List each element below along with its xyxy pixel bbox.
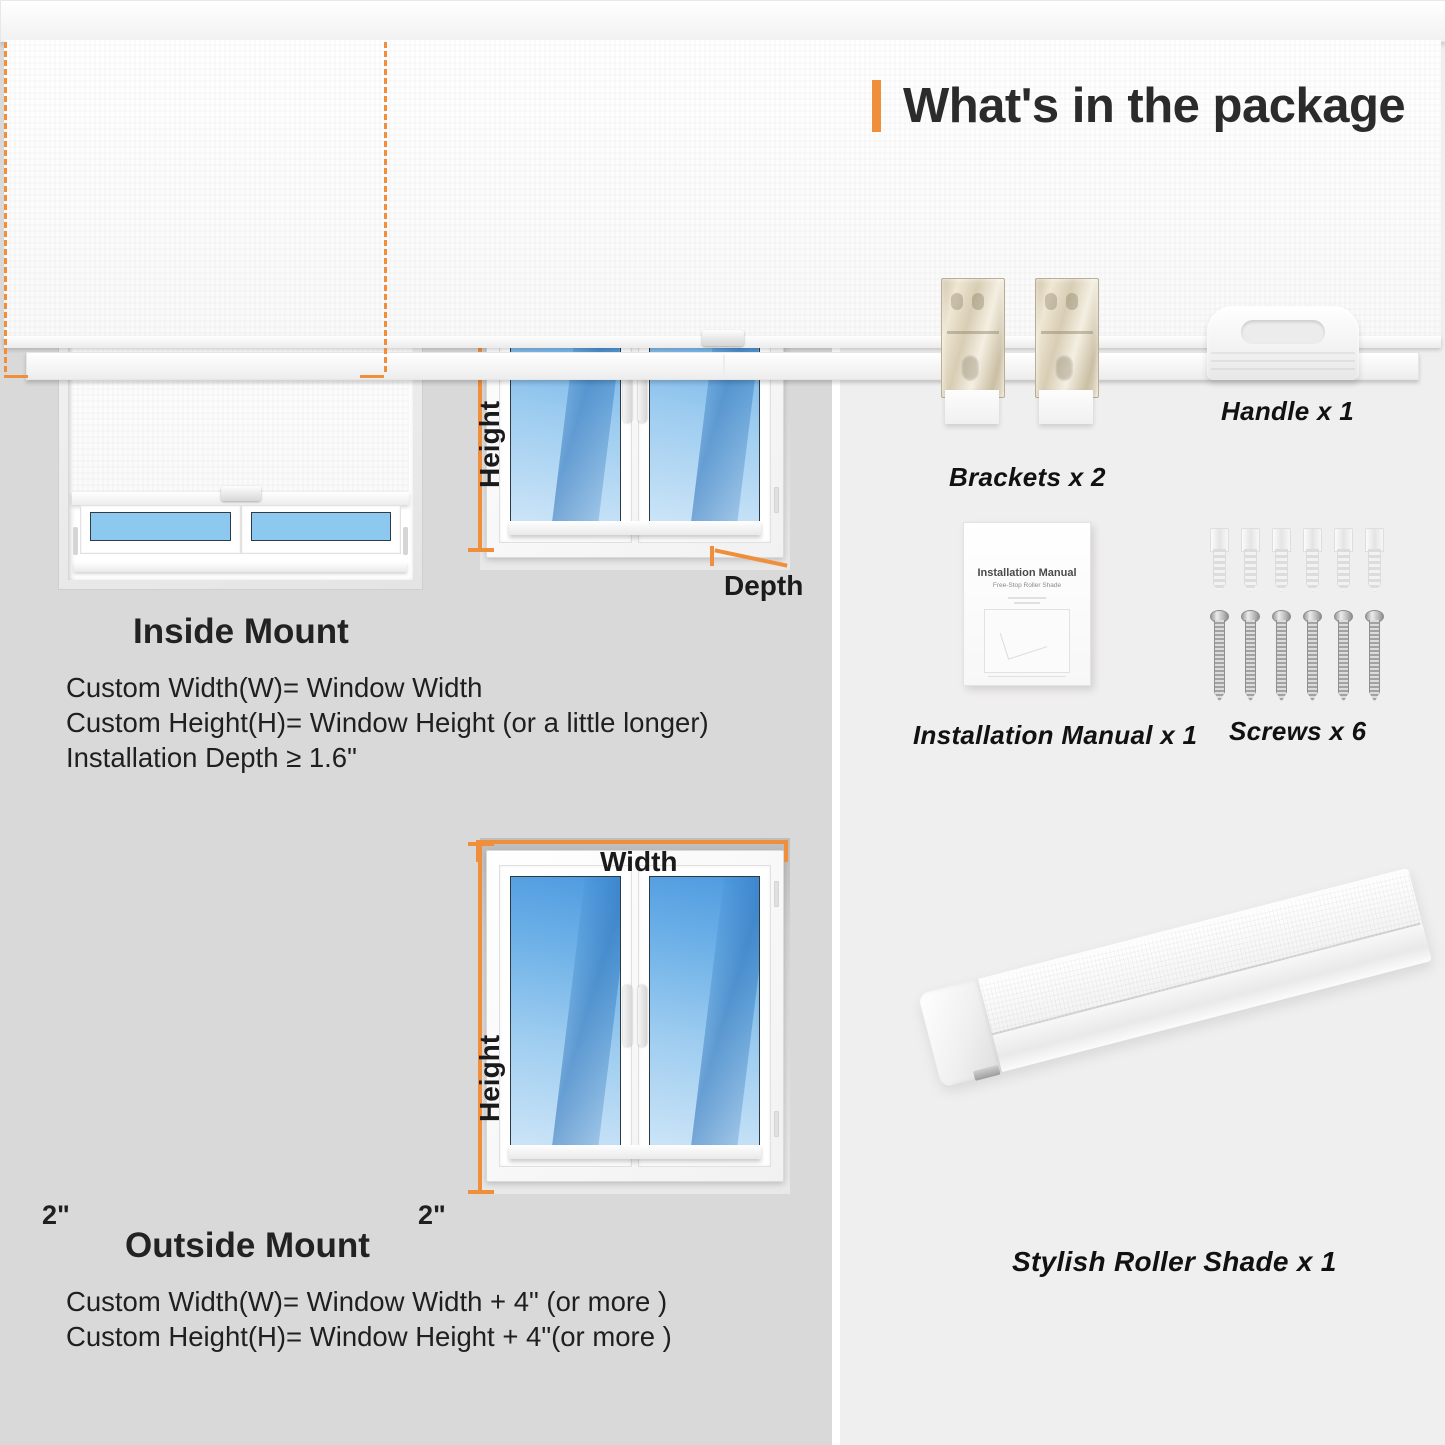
window-base (509, 1145, 761, 1159)
screw-icon (1334, 610, 1351, 702)
shade-cassette (0, 0, 1445, 42)
shade-pull-tab-icon (221, 486, 261, 501)
height-tick-bottom (468, 548, 494, 552)
manual-icon: Installation Manual Free-Stop Roller Sha… (963, 522, 1091, 686)
overhang-label-right: 2" (418, 1200, 446, 1231)
width-label: Width (600, 846, 678, 878)
roller-shade-icon (912, 885, 1432, 1215)
handle-label: Handle x 1 (1221, 396, 1354, 427)
window-frame (486, 850, 784, 1182)
manual-cover-subtitle: Free-Stop Roller Shade (964, 582, 1090, 589)
wall-anchor-icon (1302, 528, 1321, 590)
wall-anchor-icon (1209, 528, 1228, 590)
window-pane-right (649, 876, 760, 1156)
depth-label: Depth (724, 570, 803, 602)
window-hinge-top-icon (774, 881, 779, 907)
height-label: Height (474, 401, 506, 488)
window-sash-left (80, 505, 241, 554)
inside-mount-text: Custom Width(W)= Window Width Custom Hei… (66, 670, 709, 775)
screw-icon (1303, 610, 1320, 702)
wall-anchor-icon (1240, 528, 1259, 590)
roller-shade-label: Stylish Roller Shade x 1 (1012, 1246, 1337, 1278)
height-tick-top (468, 842, 494, 846)
screw-icon (1272, 610, 1289, 702)
wall-anchor-icon (1271, 528, 1290, 590)
window-hinge-left-icon (73, 527, 78, 555)
installation-manual-label: Installation Manual x 1 (913, 720, 1197, 751)
overhang-guide-left (4, 42, 7, 372)
overhang-label-left: 2" (42, 1200, 70, 1231)
window-hinge-bottom-icon (774, 1111, 779, 1137)
window-sash-left (499, 865, 632, 1167)
outside-mount-measure-diagram: Width Height (452, 822, 812, 1222)
outside-mount-line-1: Custom Width(W)= Window Width + 4" (or m… (66, 1284, 672, 1319)
screws-label: Screws x 6 (1229, 716, 1366, 747)
window-sash-right (638, 865, 771, 1167)
bracket-icon (1035, 278, 1097, 428)
inside-mount-line-3: Installation Depth ≥ 1.6" (66, 740, 709, 775)
roller-shade-tube (918, 868, 1432, 1088)
bracket-icon (941, 278, 1003, 428)
infographic-page: How to Meausre (0, 0, 1445, 1445)
accent-bar-icon (872, 80, 881, 132)
window-pane-left (510, 876, 621, 1156)
outside-mount-title: Outside Mount (125, 1226, 370, 1266)
screw-icon (1210, 610, 1227, 702)
manual-cover-title: Installation Manual (964, 567, 1090, 579)
right-panel-heading: What's in the package (872, 78, 1405, 134)
window-sill (74, 562, 407, 572)
overhang-arrow-left (4, 375, 28, 378)
outside-mount-line-2: Custom Height(H)= Window Height + 4"(or … (66, 1319, 672, 1354)
overhang-guide-right (384, 42, 387, 372)
window-glass-right (251, 512, 392, 541)
screw-icon (1241, 610, 1258, 702)
shade-pull-tab-icon (702, 330, 744, 346)
window-base (509, 521, 761, 535)
screw-icon (1365, 610, 1382, 702)
brackets-label: Brackets x 2 (949, 462, 1106, 493)
window-sash-right (241, 505, 402, 554)
handle-icon (1207, 306, 1359, 380)
inside-mount-line-1: Custom Width(W)= Window Width (66, 670, 709, 705)
window-glass-left (90, 512, 231, 541)
overhang-arrow-right (360, 375, 384, 378)
height-label: Height (474, 1035, 506, 1122)
wall-anchor-icon (1364, 528, 1383, 590)
width-tick-right (784, 840, 788, 862)
height-tick-bottom (468, 1190, 494, 1194)
window-hinge-bottom-icon (774, 487, 779, 513)
depth-tick (710, 546, 714, 566)
width-measure-line (476, 840, 788, 844)
outside-mount-text: Custom Width(W)= Window Width + 4" (or m… (66, 1284, 672, 1354)
window-hinge-right-icon (403, 527, 408, 555)
window-sashes (72, 505, 409, 576)
height-measure-line (478, 844, 482, 1192)
right-heading-text: What's in the package (903, 78, 1405, 134)
outside-mount-shade-illustration (0, 0, 390, 390)
wall-anchor-icon (1333, 528, 1352, 590)
inside-mount-title: Inside Mount (133, 612, 349, 652)
inside-mount-line-2: Custom Height(H)= Window Height (or a li… (66, 705, 709, 740)
window-handle-icon (622, 985, 648, 1047)
